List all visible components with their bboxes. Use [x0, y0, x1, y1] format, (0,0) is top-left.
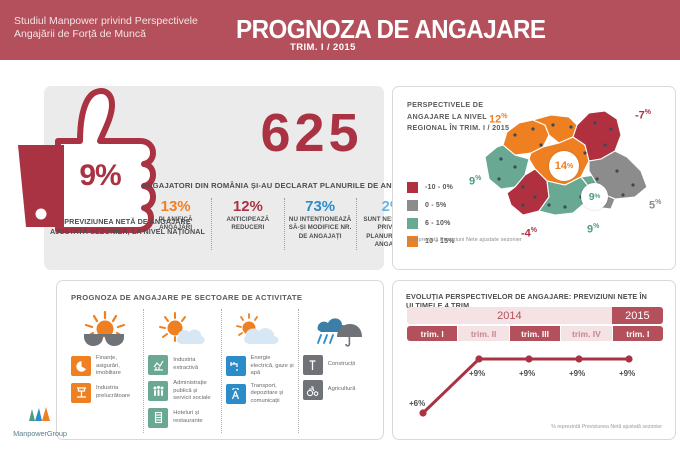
map-value-sud-vest: -4% — [521, 227, 537, 240]
rain-umbrella-icon — [310, 310, 364, 348]
legend-item: 6 - 10% — [407, 216, 455, 230]
header-subtitle: Studiul Manpower privind Perspectivele A… — [14, 15, 224, 41]
trend-point-label-3: +9% — [519, 369, 535, 378]
sectors-title: PROGNOZA DE ANGAJARE PE SECTOARE DE ACTI… — [71, 293, 302, 302]
map-value-unit: % — [593, 223, 599, 230]
sectors-panel: PROGNOZA DE ANGAJARE PE SECTOARE DE ACTI… — [56, 280, 384, 440]
sector-label: Hoteluri și restaurante — [173, 410, 216, 425]
stat-value: 73% — [287, 198, 354, 216]
stat-item: 13% PLANIFICĂ ANGAJĂRI — [140, 198, 211, 250]
sector-column-1: Finanțe, asigurări, imobiliare Industria… — [67, 309, 143, 433]
sector-item: Construcții — [303, 355, 371, 375]
brand-logo-text: ManpowerGroup — [7, 429, 73, 438]
legend-swatch — [407, 218, 418, 229]
sector-items: Industria extractivă Administrație publi… — [148, 355, 216, 428]
weather-cloud-sun — [226, 309, 294, 349]
sector-item: Energie electrică, gaze și apă — [226, 355, 294, 378]
hotel-icon — [148, 408, 168, 428]
sun-sunglasses-icon — [78, 310, 132, 348]
trend-point-label-1: +6% — [409, 399, 425, 408]
map-value-unit: % — [655, 199, 661, 206]
legend-label: 6 - 10% — [425, 220, 451, 227]
cloud-sun-icon — [233, 310, 287, 348]
map-value-unit: % — [501, 113, 507, 120]
sectors-columns: Finanțe, asigurări, imobiliare Industria… — [67, 309, 375, 433]
mining-chart-icon — [148, 355, 168, 375]
stat-item: 12% ANTICIPEAZĂ REDUCERI — [211, 198, 283, 250]
sector-item: Administrație publică și servicii social… — [148, 380, 216, 403]
sector-label: Agricultură — [328, 386, 356, 394]
trend-point — [525, 355, 532, 362]
trend-footnote: % reprezintă Previziunea Netă ajustată s… — [551, 424, 662, 430]
stat-value: 13% — [142, 198, 209, 216]
page-title: PROGNOZA DE ANGAJARE — [236, 14, 545, 45]
sector-item: Industria extractivă — [148, 355, 216, 375]
trend-point-label-5: +9% — [619, 369, 635, 378]
manpowergroup-logo-icon — [25, 405, 55, 422]
sector-items: Finanțe, asigurări, imobiliare Industria… — [71, 355, 139, 403]
sector-item: Agricultură — [303, 380, 371, 400]
trend-line-chart — [403, 343, 667, 423]
sector-column-3: Energie electrică, gaze și apă Transport… — [221, 309, 298, 433]
year-cell-2014: 2014 — [407, 307, 612, 324]
map-value-unit: % — [531, 227, 537, 234]
faucet-icon — [226, 356, 246, 376]
pie-chart-icon — [71, 356, 91, 376]
legend-swatch — [407, 200, 418, 211]
quarter-cell-4[interactable]: trim. IV — [561, 326, 611, 341]
sun-cloud-icon — [155, 310, 209, 348]
quarter-cell-1[interactable]: trim. I — [407, 326, 457, 341]
brand-logo: ManpowerGroup — [7, 405, 73, 438]
legend-label: -10 - 0% — [425, 184, 453, 191]
sector-items: Construcții Agricultură — [303, 355, 371, 400]
antenna-icon — [226, 384, 246, 404]
map-value-unit: % — [595, 193, 601, 200]
legend-swatch — [407, 182, 418, 193]
map-value-vest: 9% — [469, 175, 481, 188]
weather-sun-sunglasses — [71, 309, 139, 349]
trend-point-label-4: +9% — [569, 369, 585, 378]
quarter-row: trim. I trim. II trim. III trim. IV trim… — [407, 326, 663, 341]
employer-count-caption: ANGAJATORI DIN ROMÂNIA ȘI-AU DECLARAT PL… — [138, 181, 428, 190]
quarter-cell-5[interactable]: trim. I — [613, 326, 663, 341]
year-cell-2015: 2015 — [612, 307, 663, 324]
legend-item: 0 - 5% — [407, 198, 455, 212]
map-value-unit: % — [475, 175, 481, 182]
sector-item: Industria prelucrătoare — [71, 383, 139, 403]
sector-label: Industria prelucrătoare — [96, 385, 139, 400]
page-header: Studiul Manpower privind Perspectivele A… — [0, 0, 680, 60]
sector-label: Construcții — [328, 361, 355, 369]
trend-panel: EVOLUȚIA PERSPECTIVELOR DE ANGAJARE: PRE… — [392, 280, 676, 440]
map-value-text: 14 — [555, 160, 567, 172]
map-value-text: -4 — [521, 228, 531, 240]
sector-item: Transport, depozitare și comunicații — [226, 383, 294, 406]
sector-items: Energie electrică, gaze și apă Transport… — [226, 355, 294, 406]
stat-item: 73% NU INTENȚIONEAZĂ SĂ-ȘI MODIFICE NR. … — [284, 198, 356, 250]
hammer-icon — [303, 355, 323, 375]
sector-column-4: Construcții Agricultură — [298, 309, 375, 433]
trend-point-label-2: +9% — [469, 369, 485, 378]
sector-item: Finanțe, asigurări, imobiliare — [71, 355, 139, 378]
trend-point — [625, 355, 632, 362]
regional-map-panel: PERSPECTIVELE DE ANGAJARE LA NIVEL REGIO… — [392, 86, 676, 270]
sewing-machine-icon — [71, 383, 91, 403]
map-bubble-centru: 14% — [549, 151, 579, 181]
map-value-nord-est: -7% — [635, 109, 651, 122]
sector-label: Energie electrică, gaze și apă — [251, 355, 294, 378]
map-value-text: -7 — [635, 110, 645, 122]
weather-sun-cloud — [148, 309, 216, 349]
people-icon — [148, 381, 168, 401]
trend-point — [419, 409, 426, 416]
map-value-unit: % — [645, 109, 651, 116]
legend-label: 0 - 5% — [425, 202, 446, 209]
sector-column-2: Industria extractivă Administrație publi… — [143, 309, 220, 433]
sector-label: Administrație publică și servicii social… — [173, 380, 216, 403]
stat-label: ANTICIPEAZĂ REDUCERI — [214, 216, 281, 233]
net-employment-outlook-value: 9% — [60, 159, 140, 193]
trend-point — [575, 355, 582, 362]
map-value-sud-est: 5% — [649, 199, 661, 212]
stat-label: PLANIFICĂ ANGAJĂRI — [142, 216, 209, 233]
sector-label: Industria extractivă — [173, 357, 216, 372]
sector-item: Hoteluri și restaurante — [148, 408, 216, 428]
map-value-unit: % — [567, 163, 573, 170]
quarter-cell-3[interactable]: trim. III — [510, 326, 560, 341]
trend-line — [423, 359, 629, 413]
map-footnote: % reprezintă Previziuni Nete ajustate se… — [407, 237, 522, 243]
sector-label: Transport, depozitare și comunicații — [251, 383, 294, 406]
legend-item: -10 - 0% — [407, 180, 455, 194]
stats-row: 13% PLANIFICĂ ANGAJĂRI 12% ANTICIPEAZĂ R… — [140, 198, 428, 250]
weather-rain-umbrella — [303, 309, 371, 349]
sector-label: Finanțe, asigurări, imobiliare — [96, 355, 139, 378]
map-value-nord-vest: 12% — [489, 113, 507, 126]
map-bubble-bucuresti: 9% — [581, 183, 608, 210]
quarter-cell-2[interactable]: trim. II — [458, 326, 508, 341]
tractor-icon — [303, 380, 323, 400]
year-row: 2014 2015 — [407, 307, 663, 324]
stat-value: 12% — [214, 198, 281, 216]
header-quarter: TRIM. I / 2015 — [290, 42, 356, 53]
trend-point — [475, 355, 482, 362]
stat-label: NU INTENȚIONEAZĂ SĂ-ȘI MODIFICE NR. DE A… — [287, 216, 354, 241]
map-value-sud: 9% — [587, 223, 599, 236]
national-forecast-panel: 9% PREVIZIUNEA NETĂ DE ANGAJARE AJUSTATĂ… — [44, 86, 384, 270]
map-value-text: 12 — [489, 114, 501, 126]
